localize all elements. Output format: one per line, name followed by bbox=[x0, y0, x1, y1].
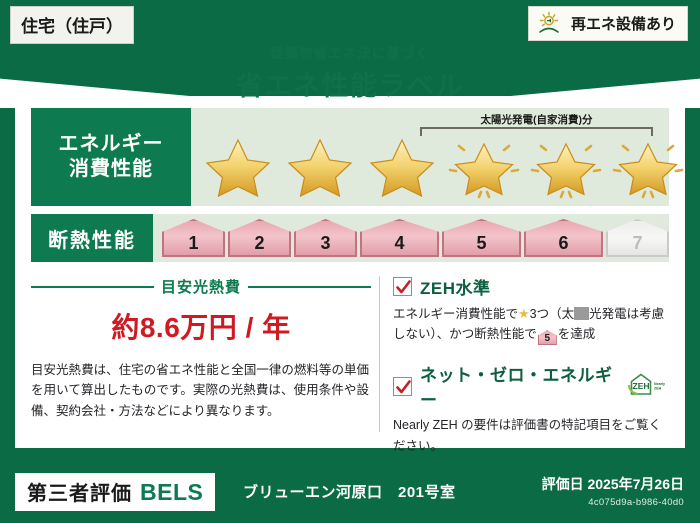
renewable-badge-label: 再エネ設備あり bbox=[571, 13, 676, 34]
zeh-panel: ZEH水準 エネルギー消費性能で★3つ（太光発電は考慮しない）、かつ断熱性能で5… bbox=[393, 272, 669, 456]
insulation-level-3: 3 bbox=[294, 219, 357, 257]
checkbox-checked-icon bbox=[393, 377, 412, 396]
property-name: ブリューエン河原口 201号室 bbox=[243, 481, 456, 502]
insulation-level-1: 1 bbox=[162, 219, 225, 257]
inline-insulation-level-badge: 5 bbox=[538, 330, 557, 345]
utility-cost-value: 約8.6万円 / 年 bbox=[31, 306, 371, 346]
svg-text:ZEH: ZEH bbox=[654, 386, 662, 390]
heading-rule-right bbox=[248, 286, 371, 288]
redacted-character bbox=[574, 307, 589, 320]
sun-solar-icon bbox=[538, 11, 564, 35]
zeh-netzero-block: ネット・ゼロ・エネルギー ZEH Nearly ZEH Nearly ZEH の… bbox=[393, 361, 669, 456]
zeh-house-logo-icon: ZEH Nearly ZEH bbox=[625, 372, 669, 401]
zeh-netzero-title: ネット・ゼロ・エネルギー bbox=[420, 361, 617, 411]
zeh-standard-title: ZEH水準 bbox=[420, 274, 491, 299]
energy-performance-label: エネルギー 消費性能 bbox=[31, 108, 191, 206]
star-icon bbox=[363, 134, 441, 200]
heading-rule-left bbox=[31, 286, 154, 288]
insulation-level-4: 4 bbox=[360, 219, 439, 257]
label-card: エネルギー 消費性能 太陽光発電(自家消費)分 bbox=[15, 96, 685, 448]
zeh-standard-block: ZEH水準 エネルギー消費性能で★3つ（太光発電は考慮しない）、かつ断熱性能で5… bbox=[393, 274, 669, 345]
zeh-text-part4: を達成 bbox=[558, 327, 596, 341]
zeh-star-count: 3つ bbox=[530, 307, 549, 321]
energy-performance-row: エネルギー 消費性能 太陽光発電(自家消費)分 bbox=[31, 108, 669, 206]
evaluation-info: 評価日 2025年7月26日 4c075d9a-b986-40d0 bbox=[542, 474, 684, 508]
energy-performance-body: 太陽光発電(自家消費)分 bbox=[191, 108, 669, 206]
label-title: 建築物省エネ法に基づく 省エネ性能ラベル bbox=[0, 42, 700, 103]
insulation-level-7: 7 bbox=[606, 219, 669, 257]
insulation-level-scale: 1 2 3 4 5 6 7 bbox=[153, 214, 669, 262]
utility-cost-note: 目安光熱費は、住宅の省エネ性能と全国一律の燃料等の単価を用いて算出したものです。… bbox=[31, 360, 371, 421]
zeh-standard-text: エネルギー消費性能で★3つ（太光発電は考慮しない）、かつ断熱性能で5を達成 bbox=[393, 303, 669, 345]
svg-text:ZEH: ZEH bbox=[633, 381, 650, 391]
bels-badge-en: BELS bbox=[140, 479, 203, 506]
title-heading: 省エネ性能ラベル bbox=[0, 64, 700, 103]
insulation-performance-row: 断熱性能 1 2 3 4 5 6 7 bbox=[31, 214, 669, 262]
inline-star-icon: ★ bbox=[518, 306, 530, 321]
zeh-text-part1: エネルギー消費性能で bbox=[393, 307, 518, 321]
insulation-level-5: 5 bbox=[442, 219, 521, 257]
utility-cost-heading: 目安光熱費 bbox=[31, 276, 371, 297]
utility-cost-panel: 目安光熱費 約8.6万円 / 年 目安光熱費は、住宅の省エネ性能と全国一律の燃料… bbox=[31, 272, 371, 436]
star-icon bbox=[281, 134, 359, 200]
zeh-standard-heading: ZEH水準 bbox=[393, 274, 669, 299]
lower-section: 目安光熱費 約8.6万円 / 年 目安光熱費は、住宅の省エネ性能と全国一律の燃料… bbox=[31, 272, 669, 436]
energy-label-line1: エネルギー bbox=[59, 132, 164, 157]
energy-label-line2: 消費性能 bbox=[69, 157, 153, 182]
building-type-tag: 住宅（住戸） bbox=[10, 6, 134, 44]
renewable-equipment-badge: 再エネ設備あり bbox=[528, 6, 688, 41]
insulation-level-2: 2 bbox=[228, 219, 291, 257]
zeh-text-part2: （太 bbox=[549, 307, 574, 321]
checkbox-checked-icon bbox=[393, 277, 412, 296]
zeh-netzero-text: Nearly ZEH の要件は評価書の特記項目をご覧ください。 bbox=[393, 415, 669, 456]
evaluation-date: 評価日 2025年7月26日 bbox=[542, 474, 684, 494]
footer-band: 第三者評価 BELS ブリューエン河原口 201号室 評価日 2025年7月26… bbox=[0, 461, 700, 523]
evaluation-id: 4c075d9a-b986-40d0 bbox=[542, 497, 684, 508]
energy-star-rating bbox=[199, 134, 687, 200]
solar-portion-note: 太陽光発電(自家消費)分 bbox=[419, 112, 654, 127]
zeh-netzero-heading: ネット・ゼロ・エネルギー ZEH Nearly ZEH bbox=[393, 361, 669, 411]
bels-badge: 第三者評価 BELS bbox=[15, 473, 215, 511]
insulation-performance-label: 断熱性能 bbox=[31, 214, 153, 262]
title-subheading: 建築物省エネ法に基づく bbox=[0, 42, 700, 62]
star-sparkle-icon bbox=[445, 134, 523, 200]
svg-text:Nearly: Nearly bbox=[654, 382, 665, 386]
star-sparkle-icon bbox=[527, 134, 605, 200]
vertical-divider bbox=[379, 276, 380, 432]
bels-badge-jp: 第三者評価 bbox=[27, 477, 132, 506]
star-icon bbox=[199, 134, 277, 200]
insulation-level-6: 6 bbox=[524, 219, 603, 257]
utility-cost-heading-text: 目安光熱費 bbox=[161, 276, 241, 297]
star-sparkle-icon bbox=[609, 134, 687, 200]
